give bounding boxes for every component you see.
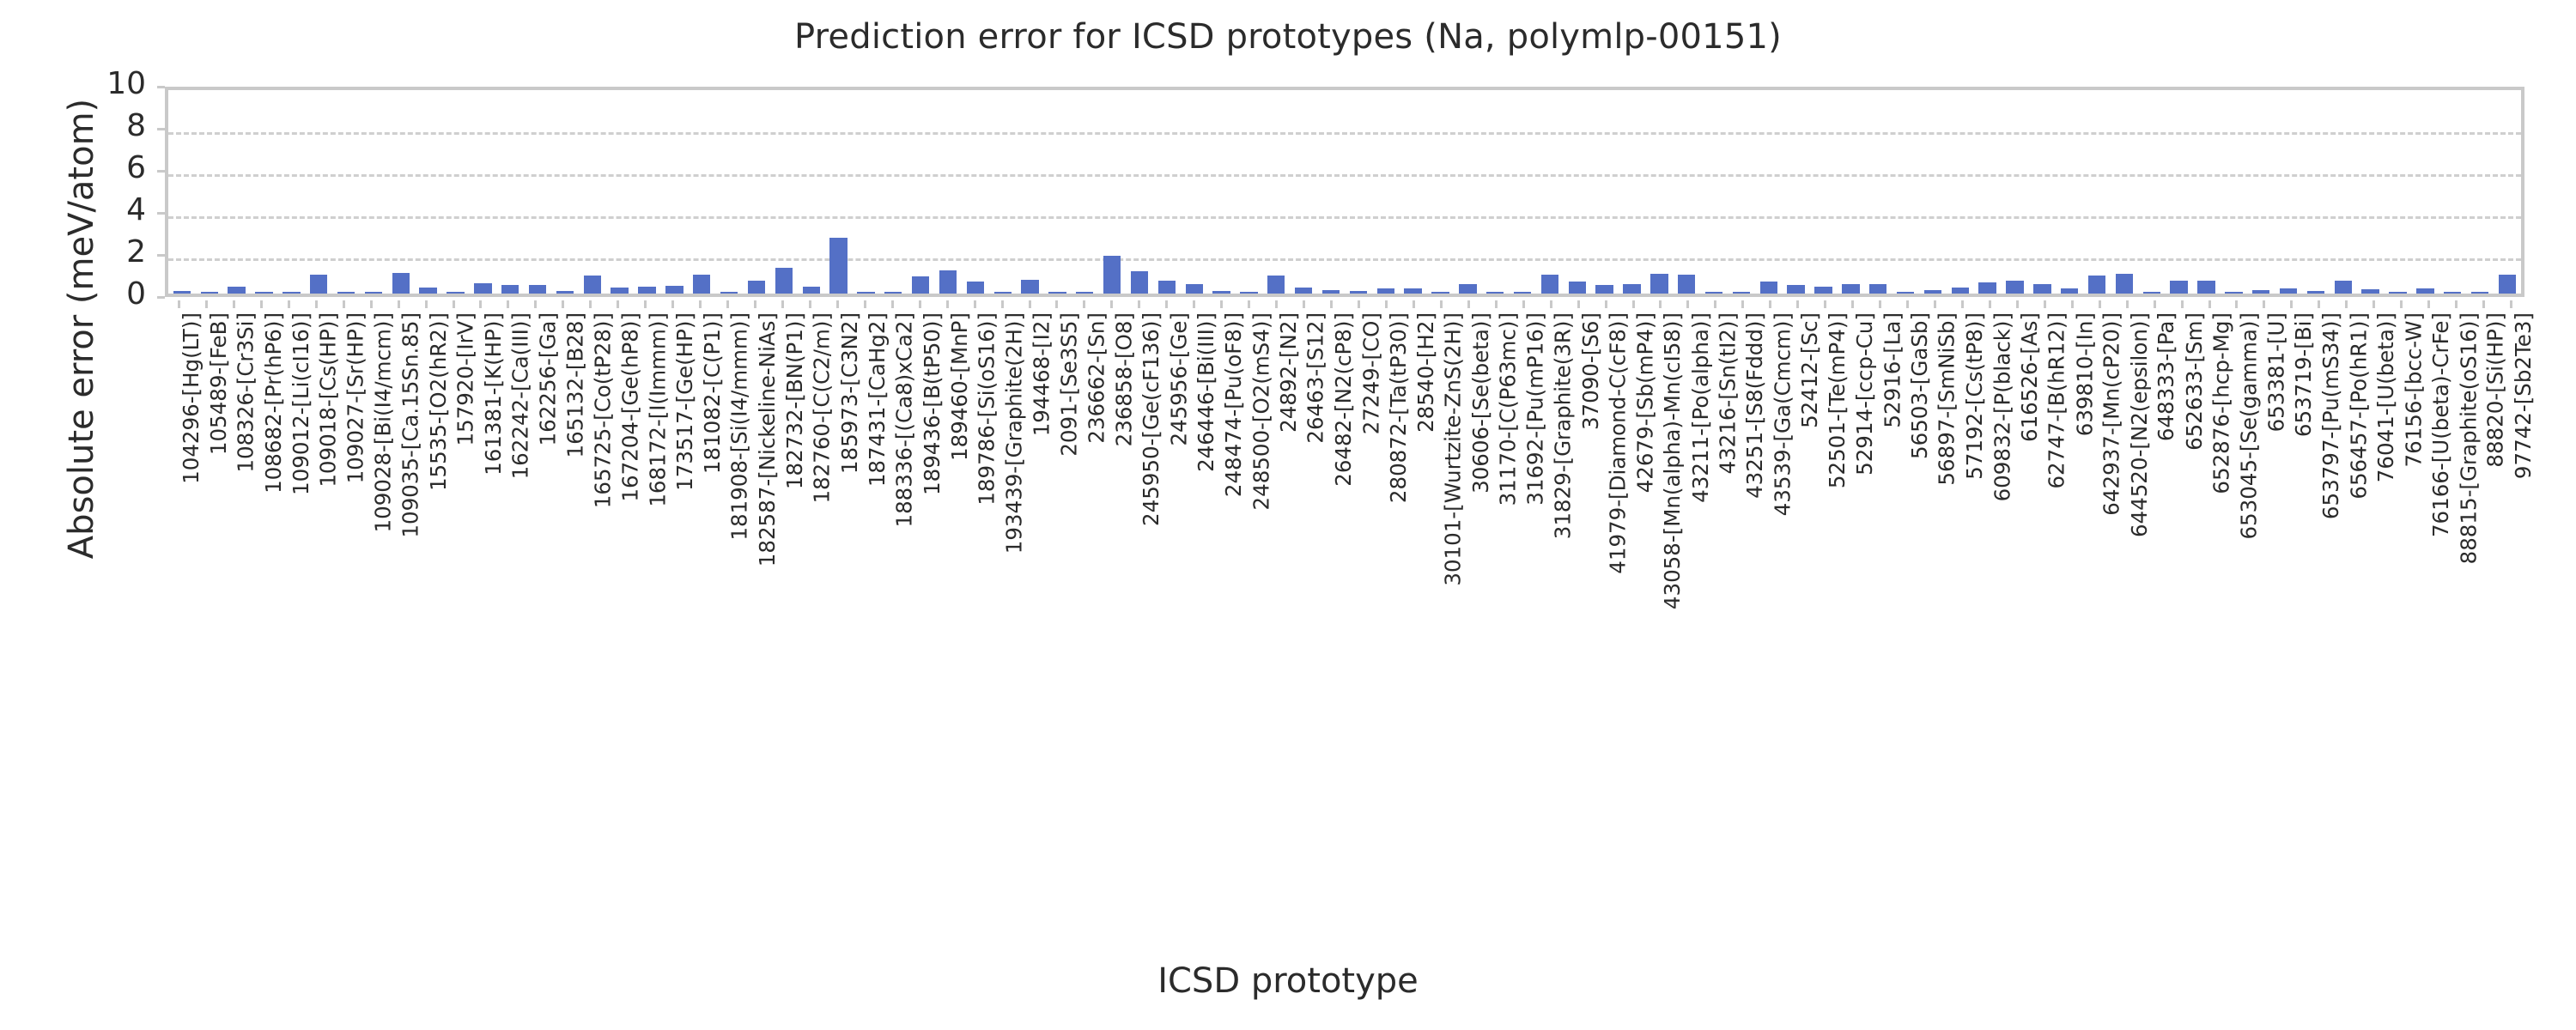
x-tick-mark [1495, 300, 1498, 308]
x-tick-label: 52916-[La] [1880, 312, 1905, 428]
x-tick-mark [233, 300, 235, 308]
bar[interactable] [1924, 290, 1941, 294]
x-tick-mark [1165, 300, 1168, 308]
bar[interactable] [665, 286, 683, 294]
bar-slot [223, 90, 251, 294]
bar[interactable] [2389, 292, 2406, 294]
bar[interactable] [1541, 275, 1558, 294]
x-tick-label: 31170-[C(P63mc)] [1496, 312, 1521, 506]
x-tick-mark [1741, 300, 1744, 308]
x-tick-mark [699, 300, 702, 308]
x-tick-mark [946, 300, 949, 308]
x-tick-mark [398, 300, 400, 308]
x-tick-label: 88815-[Graphite(oS16)] [2456, 312, 2481, 564]
bar-slot [1427, 90, 1455, 294]
bar-slot [2083, 90, 2111, 294]
x-tick-mark [1577, 300, 1580, 308]
x-tick-mark [974, 300, 976, 308]
bar[interactable] [283, 292, 300, 294]
x-tick-mark [1467, 300, 1470, 308]
bar[interactable] [1595, 285, 1613, 294]
x-tick-label: 43211-[Po(alpha)] [1687, 312, 1712, 503]
bar[interactable] [1952, 288, 1969, 294]
bar[interactable] [2225, 292, 2242, 294]
x-tick-mark [534, 300, 537, 308]
x-tick-label: 165725-[Co(tP28)] [590, 312, 615, 508]
bar-slot [496, 90, 524, 294]
x-tick-label: 189786-[Si(oS16)] [975, 312, 999, 506]
x-tick-label: 52501-[Te(mP4)] [1825, 312, 1850, 488]
bar-slot [1098, 90, 1126, 294]
bar-slot [879, 90, 907, 294]
x-tick-label: 52412-[Sc] [1797, 312, 1822, 428]
bar[interactable] [693, 275, 710, 294]
plot-area [165, 87, 2524, 297]
x-tick-mark [2372, 300, 2375, 308]
bar-slot [606, 90, 634, 294]
bar-slot [1810, 90, 1838, 294]
y-tick-mark [157, 254, 165, 257]
bar-slot [2357, 90, 2385, 294]
bar[interactable] [2416, 288, 2433, 294]
x-tick-label: 193439-[Graphite(2H)] [1002, 312, 1027, 554]
bar-slot [1071, 90, 1098, 294]
bar[interactable] [1404, 288, 1421, 294]
bar[interactable] [2088, 276, 2105, 294]
bar[interactable] [1377, 288, 1394, 294]
x-tick-label: 41979-[Diamond-C(cF8)] [1606, 312, 1631, 574]
x-tick-mark [1055, 300, 1058, 308]
bar[interactable] [2307, 291, 2324, 294]
bar[interactable] [2197, 281, 2215, 294]
bar[interactable] [2061, 288, 2078, 294]
x-tick-mark [562, 300, 564, 308]
bar-slot [2494, 90, 2521, 294]
bar-slot [1017, 90, 1044, 294]
x-tick-label: 109012-[Li(cI16)] [289, 312, 313, 495]
bar[interactable] [1814, 287, 1832, 294]
bar-slot [196, 90, 223, 294]
x-tick-label: 30606-[Se(beta)] [1468, 312, 1493, 494]
bar-slot [1864, 90, 1892, 294]
bar-slot [1044, 90, 1072, 294]
bar[interactable] [1322, 290, 1340, 294]
bar-slot [1783, 90, 1810, 294]
x-tick-mark [1330, 300, 1333, 308]
x-tick-mark [1961, 300, 1964, 308]
bar-slot [688, 90, 715, 294]
bar-slot [1947, 90, 1974, 294]
x-tick-mark [260, 300, 263, 308]
x-tick-mark [178, 300, 180, 308]
x-tick-mark [1138, 300, 1140, 308]
x-tick-mark [836, 300, 839, 308]
x-tick-label: 109018-[Cs(HP)] [316, 312, 341, 488]
x-tick-mark [1001, 300, 1004, 308]
x-tick-label: 26482-[N2(cP8)] [1331, 312, 1356, 487]
bar[interactable] [255, 292, 272, 294]
bar[interactable] [2033, 284, 2050, 294]
x-tick-label: 653719-[Bi] [2291, 312, 2316, 437]
y-tick-label: 8 [17, 108, 146, 143]
bar[interactable] [829, 238, 847, 294]
bar-slot [1728, 90, 1755, 294]
x-tick-mark [315, 300, 318, 308]
bar[interactable] [556, 291, 574, 294]
x-tick-label: 280872-[Ta(tP30)] [1386, 312, 1411, 503]
x-tick-label: 42679-[Sb(mP4)] [1633, 312, 1658, 493]
bar[interactable] [1514, 292, 1531, 294]
bar[interactable] [419, 288, 436, 294]
bar[interactable] [1240, 292, 1257, 294]
bar[interactable] [2280, 288, 2297, 294]
x-tick-label: 43058-[Mn(alpha)-Mn(cI58)] [1660, 312, 1685, 609]
bar[interactable] [1103, 256, 1121, 294]
x-tick-label: 52914-[ccp-Cu] [1852, 312, 1877, 476]
x-tick-mark [1440, 300, 1443, 308]
bar-slot [442, 90, 470, 294]
bar[interactable] [501, 285, 519, 294]
x-tick-label: 43216-[Sn(tI2)] [1715, 312, 1740, 475]
x-tick-label: 639810-[In] [2072, 312, 2097, 436]
bar-slot [1181, 90, 1208, 294]
bar-slot [1564, 90, 1591, 294]
bar-slot [1837, 90, 1864, 294]
x-tick-mark [1413, 300, 1415, 308]
bar-series [168, 90, 2521, 294]
x-tick-mark [2071, 300, 2074, 308]
y-tick-label: 10 [17, 66, 146, 101]
x-tick-mark [1934, 300, 1936, 308]
x-tick-mark [809, 300, 811, 308]
bar-slot [1208, 90, 1236, 294]
x-tick-mark [1769, 300, 1771, 308]
bar[interactable] [1350, 291, 1367, 294]
bar[interactable] [1897, 292, 1914, 294]
bar-slot [1262, 90, 1290, 294]
x-tick-label: 653381-[U] [2263, 312, 2288, 432]
x-tick-label: 109035-[Ca.15Sn.85] [398, 312, 423, 538]
bar-slot [2220, 90, 2247, 294]
x-tick-label: 642937-[Mn(cP20)] [2099, 312, 2124, 516]
bar[interactable] [1650, 274, 1668, 294]
x-tick-mark [2290, 300, 2293, 308]
bar[interactable] [1212, 291, 1230, 294]
x-tick-label: 616526-[As] [2017, 312, 2042, 442]
x-tick-mark [1275, 300, 1278, 308]
x-tick-mark [1220, 300, 1223, 308]
x-tick-label: 24892-[N2] [1276, 312, 1301, 433]
x-tick-mark [1193, 300, 1195, 308]
bar-slot [1345, 90, 1372, 294]
bar-slot [332, 90, 360, 294]
bar[interactable] [1760, 282, 1777, 294]
x-tick-label: 105489-[FeB] [206, 312, 231, 455]
x-tick-label: 245950-[Ge(cF136)] [1139, 312, 1163, 526]
bar[interactable] [939, 270, 957, 294]
bar-slot [2275, 90, 2302, 294]
bar-slot [1236, 90, 1263, 294]
bar-slot [2166, 90, 2193, 294]
x-tick-label: 109028-[Bi(I4/mcm)] [371, 312, 396, 532]
bar[interactable] [1267, 276, 1285, 294]
bar-slot [360, 90, 387, 294]
x-tick-mark [644, 300, 647, 308]
y-tick-mark [157, 296, 165, 299]
bar[interactable] [392, 273, 410, 294]
x-tick-label: 109027-[Sr(HP)] [343, 312, 368, 483]
bar-slot [1919, 90, 1947, 294]
x-tick-mark [1029, 300, 1031, 308]
x-tick-label: 187431-[CaHg2] [865, 312, 890, 487]
bar[interactable] [2335, 281, 2352, 294]
bar[interactable] [748, 281, 765, 294]
bar[interactable] [474, 283, 491, 294]
x-tick-mark [370, 300, 373, 308]
x-tick-mark [919, 300, 921, 308]
bar[interactable] [584, 276, 601, 294]
bar-slot [2056, 90, 2083, 294]
bar[interactable] [2006, 281, 2023, 294]
bar-slot [743, 90, 770, 294]
y-tick-label: 4 [17, 192, 146, 227]
x-tick-label: 56503-[GaSb] [1907, 312, 1932, 459]
x-tick-label: 76041-[U(beta)] [2373, 312, 2398, 482]
bar-slot [1619, 90, 1646, 294]
bar[interactable] [2116, 274, 2133, 294]
bar-slot [277, 90, 305, 294]
y-tick-label: 6 [17, 150, 146, 185]
bar-slot [1755, 90, 1783, 294]
bar[interactable] [2143, 292, 2160, 294]
bar[interactable] [1295, 288, 1312, 294]
bar-slot [2247, 90, 2275, 294]
bar[interactable] [775, 268, 793, 294]
x-tick-label: 236858-[O8] [1111, 312, 1136, 446]
bar[interactable] [1569, 282, 1586, 294]
bar-slot [2330, 90, 2357, 294]
bar[interactable] [611, 288, 628, 294]
x-tick-label: 185973-[C3N2] [837, 312, 862, 474]
x-tick-label: 194468-[I2] [1030, 312, 1054, 436]
bar[interactable] [857, 292, 874, 294]
x-tick-label: 245956-[Ge] [1166, 312, 1191, 446]
x-tick-mark [2208, 300, 2211, 308]
bar[interactable] [1623, 284, 1640, 294]
x-tick-mark [205, 300, 208, 308]
x-tick-mark [453, 300, 455, 308]
bar[interactable] [1431, 292, 1449, 294]
bar-slot [1591, 90, 1619, 294]
bar-slot [1400, 90, 1427, 294]
bar-slot [2385, 90, 2412, 294]
bar[interactable] [1459, 284, 1476, 294]
x-tick-label: 236662-[Sn] [1084, 312, 1109, 444]
bar[interactable] [912, 276, 929, 294]
bar[interactable] [365, 292, 382, 294]
x-tick-mark [2345, 300, 2348, 308]
bar[interactable] [2471, 292, 2488, 294]
x-tick-label: 76156-[bcc-W] [2401, 312, 2426, 467]
bar[interactable] [2252, 290, 2269, 294]
x-tick-label: 246446-[Bi(III)] [1194, 312, 1218, 472]
x-tick-label: 26463-[S12] [1303, 312, 1328, 444]
bar-slot [1892, 90, 1919, 294]
bar[interactable] [994, 292, 1012, 294]
bar-slot [1536, 90, 1564, 294]
bar-slot [551, 90, 579, 294]
bar[interactable] [1733, 292, 1750, 294]
bar-slot [579, 90, 606, 294]
bar[interactable] [1787, 285, 1804, 294]
x-tick-label: 181908-[Si(I4/mmm)] [727, 312, 752, 541]
bar-slot [2028, 90, 2056, 294]
x-tick-mark [1083, 300, 1085, 308]
y-tick-mark [157, 170, 165, 173]
bar-slot [168, 90, 196, 294]
x-tick-label: 653045-[Se(gamma)] [2236, 312, 2261, 540]
y-tick-label: 0 [17, 276, 146, 312]
x-tick-label: 167204-[Ge(hP8)] [617, 312, 642, 502]
x-tick-mark [1906, 300, 1909, 308]
bar-slot [989, 90, 1017, 294]
bar-slot [2138, 90, 2166, 294]
bar[interactable] [1021, 280, 1038, 294]
x-tick-label: 181082-[C(P1)] [700, 312, 725, 474]
figure: Prediction error for ICSD prototypes (Na… [0, 0, 2576, 1030]
y-tick-label: 2 [17, 234, 146, 270]
bar[interactable] [1869, 284, 1886, 294]
x-tick-mark [1632, 300, 1635, 308]
bar[interactable] [201, 292, 218, 294]
x-tick-mark [2263, 300, 2265, 308]
bar-slot [934, 90, 962, 294]
bar-slot [1290, 90, 1317, 294]
x-tick-label: 43539-[Ga(Cmcm)] [1770, 312, 1795, 516]
bar[interactable] [529, 285, 546, 294]
x-tick-label: 31692-[Pu(mP16)] [1523, 312, 1548, 506]
bar-slot [770, 90, 798, 294]
bar[interactable] [1131, 271, 1148, 294]
x-tick-mark [1659, 300, 1662, 308]
bar[interactable] [1076, 292, 1093, 294]
x-tick-mark [1522, 300, 1525, 308]
x-tick-label: 88820-[Si(HP)] [2483, 312, 2508, 468]
bar[interactable] [1048, 292, 1066, 294]
bar-slot [660, 90, 688, 294]
x-tick-mark [507, 300, 509, 308]
x-tick-mark [726, 300, 729, 308]
bar[interactable] [1842, 284, 1859, 294]
bar[interactable] [638, 287, 655, 294]
x-tick-mark [2455, 300, 2458, 308]
x-tick-label: 644520-[N2(epsilon)] [2127, 312, 2152, 537]
bar-slot [2193, 90, 2221, 294]
bar-slot [2302, 90, 2330, 294]
bar-slot [2439, 90, 2466, 294]
bar[interactable] [884, 292, 902, 294]
x-tick-label: 182732-[BN(P1)] [782, 312, 807, 489]
bar[interactable] [1186, 284, 1203, 294]
x-tick-label: 165132-[B28] [562, 312, 587, 457]
bar-slot [415, 90, 442, 294]
bar[interactable] [447, 292, 464, 294]
x-tick-mark [2482, 300, 2485, 308]
x-tick-label: 652876-[hcp-Mg] [2209, 312, 2234, 494]
x-tick-mark [2318, 300, 2320, 308]
bar[interactable] [967, 282, 984, 294]
x-tick-label: 56897-[SmNiSb] [1935, 312, 1959, 486]
x-tick-label: 31829-[Graphite(3R)] [1551, 312, 1576, 539]
x-tick-mark [1385, 300, 1388, 308]
bar[interactable] [2444, 292, 2461, 294]
x-tick-label: 62747-[B(hR12)] [2044, 312, 2069, 489]
x-tick-label: 15535-[O2(hR2)] [426, 312, 451, 491]
bar-slot [907, 90, 934, 294]
y-tick-mark [157, 212, 165, 215]
bar[interactable] [337, 292, 355, 294]
x-tick-label: 656457-[Po(hR1)] [2346, 312, 2371, 500]
x-tick-label: 108326-[Cr3Si] [234, 312, 258, 473]
x-tick-mark [2099, 300, 2101, 308]
bar-slot [1700, 90, 1728, 294]
bar[interactable] [173, 291, 191, 294]
bar[interactable] [720, 292, 738, 294]
x-tick-mark [754, 300, 756, 308]
bar[interactable] [2170, 281, 2187, 294]
x-tick-mark [1851, 300, 1854, 308]
x-tick-mark [2044, 300, 2046, 308]
x-tick-label: 248474-[Pu(oF8)] [1221, 312, 1246, 497]
x-tick-label: 652633-[Sm] [2182, 312, 2207, 451]
bar[interactable] [2361, 289, 2379, 294]
bar-slot [852, 90, 879, 294]
bar[interactable] [1678, 275, 1695, 294]
x-tick-mark [343, 300, 345, 308]
bar-slot [2002, 90, 2029, 294]
x-tick-mark [2235, 300, 2238, 308]
bar-slot [825, 90, 853, 294]
x-tick-mark [2400, 300, 2403, 308]
bar[interactable] [1978, 282, 1996, 294]
x-tick-mark [479, 300, 482, 308]
bar-slot [2411, 90, 2439, 294]
x-tick-label: 161381-[K(HP)] [480, 312, 505, 476]
x-tick-mark [1110, 300, 1113, 308]
x-tick-label: 188336-[(Ca8)xCa2] [892, 312, 917, 528]
bar[interactable] [1158, 281, 1176, 294]
bar-slot [715, 90, 743, 294]
bar[interactable] [228, 287, 245, 294]
bar-slot [1509, 90, 1536, 294]
x-tick-label: 157920-[IrV] [453, 312, 478, 446]
bar-slot [524, 90, 551, 294]
x-tick-mark [617, 300, 619, 308]
x-tick-mark [1879, 300, 1881, 308]
bar[interactable] [1705, 292, 1722, 294]
bar-slot [1481, 90, 1509, 294]
bar[interactable] [1486, 292, 1504, 294]
x-tick-mark [2126, 300, 2129, 308]
x-tick-label: 648333-[Pa] [2154, 312, 2179, 441]
bar[interactable] [803, 287, 820, 294]
x-tick-label: 189460-[MnP] [947, 312, 972, 461]
x-tick-label: 57192-[Cs(tP8)] [1962, 312, 1987, 480]
x-tick-label: 182587-[Nickeline-NiAs] [755, 312, 780, 566]
x-tick-label: 2091-[Se3S5] [1056, 312, 1081, 457]
bar[interactable] [310, 275, 327, 294]
bar[interactable] [2499, 275, 2516, 294]
